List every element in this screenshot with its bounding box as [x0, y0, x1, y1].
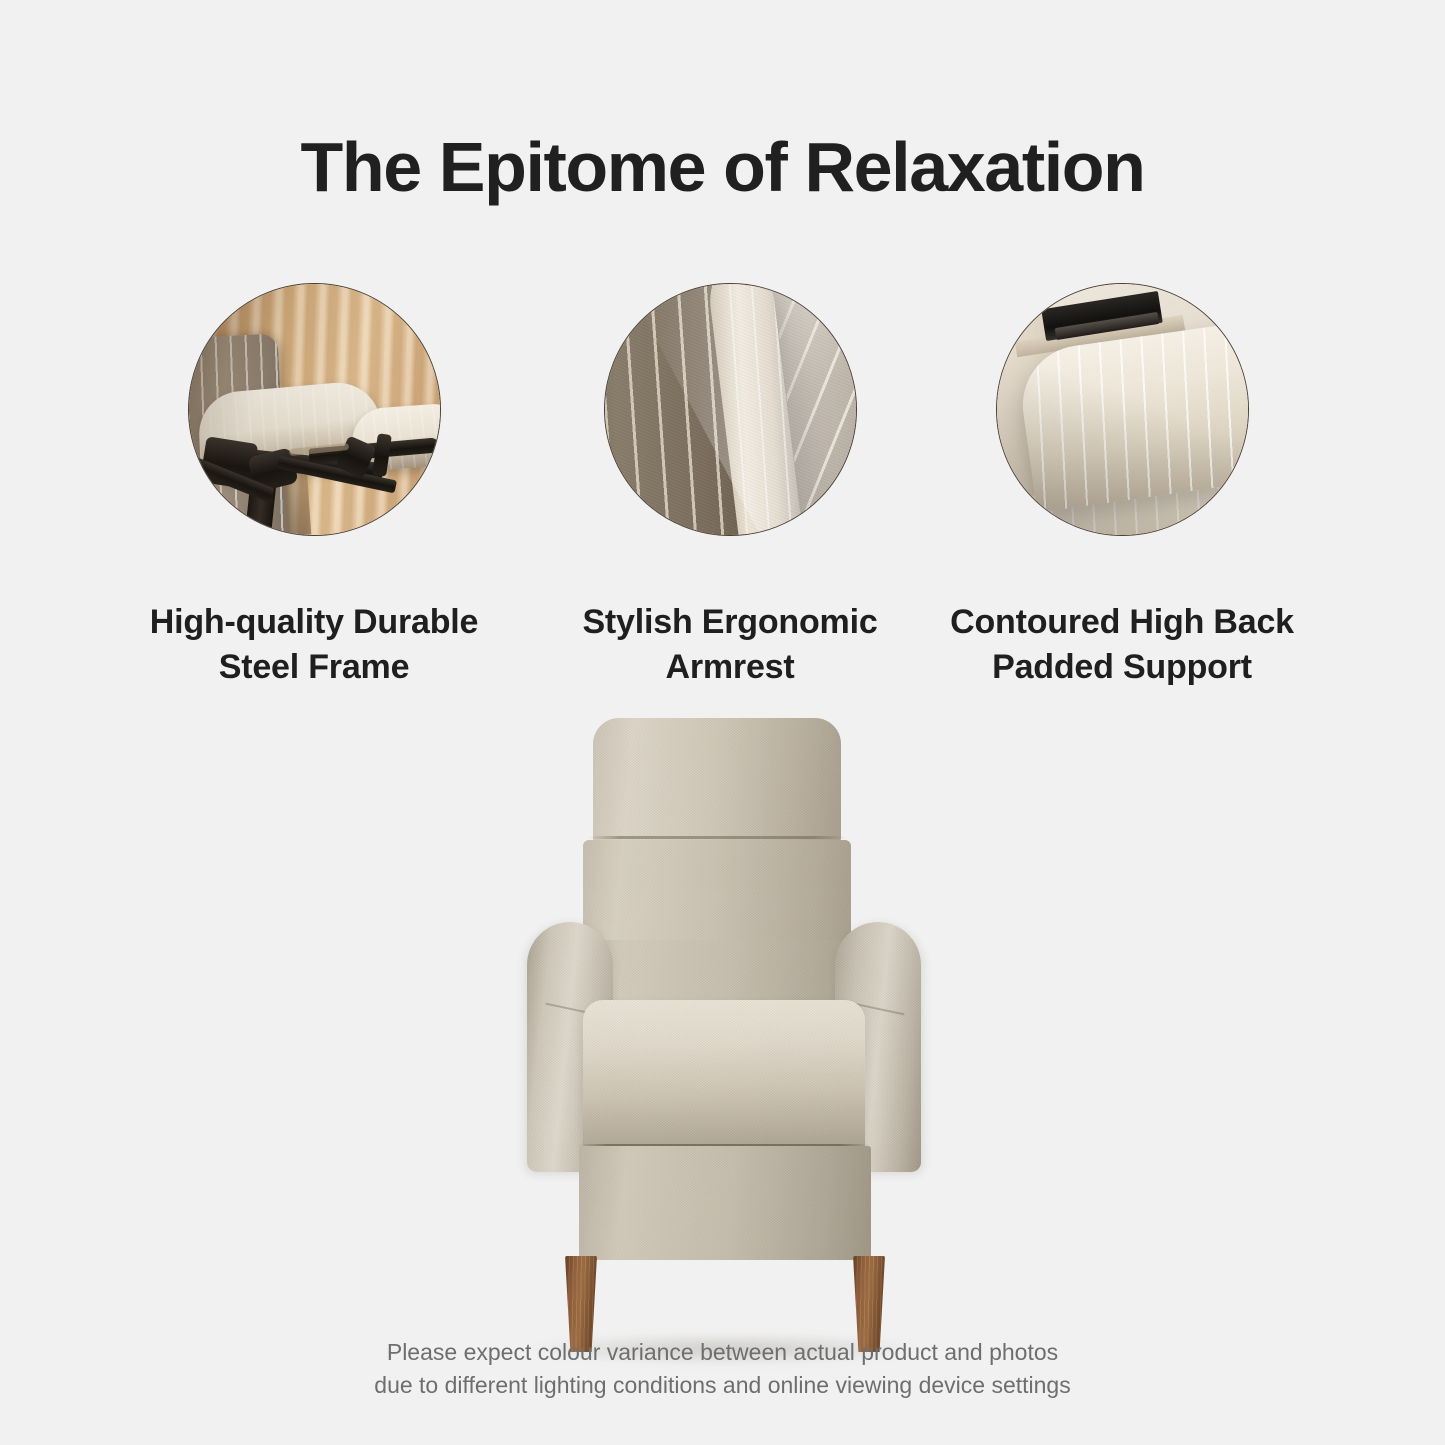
fabric-texture — [605, 284, 856, 535]
infographic-canvas: The Epitome of Relaxation — [0, 0, 1445, 1445]
disclaimer-line: Please expect colour variance between ac… — [0, 1336, 1445, 1369]
seat-cushion — [583, 1000, 865, 1150]
caption-line: High-quality Durable — [79, 600, 549, 645]
headrest — [593, 718, 841, 844]
feature-image-steel-frame — [188, 283, 441, 536]
product-image-recliner — [505, 700, 940, 1320]
image-shading — [189, 284, 440, 535]
feature-caption-high-back: Contoured High Back Padded Support — [887, 600, 1357, 690]
caption-line: Contoured High Back — [887, 600, 1357, 645]
page-title: The Epitome of Relaxation — [0, 132, 1445, 202]
headrest-seam — [589, 836, 845, 839]
disclaimer-text: Please expect colour variance between ac… — [0, 1336, 1445, 1401]
disclaimer-line: due to different lighting conditions and… — [0, 1369, 1445, 1402]
caption-line: Steel Frame — [79, 645, 549, 690]
feature-image-armrest — [604, 283, 857, 536]
feature-caption-steel-frame: High-quality Durable Steel Frame — [79, 600, 549, 690]
base-skirt — [579, 1146, 871, 1260]
image-shading — [997, 284, 1248, 535]
feature-image-high-back — [996, 283, 1249, 536]
caption-line: Padded Support — [887, 645, 1357, 690]
